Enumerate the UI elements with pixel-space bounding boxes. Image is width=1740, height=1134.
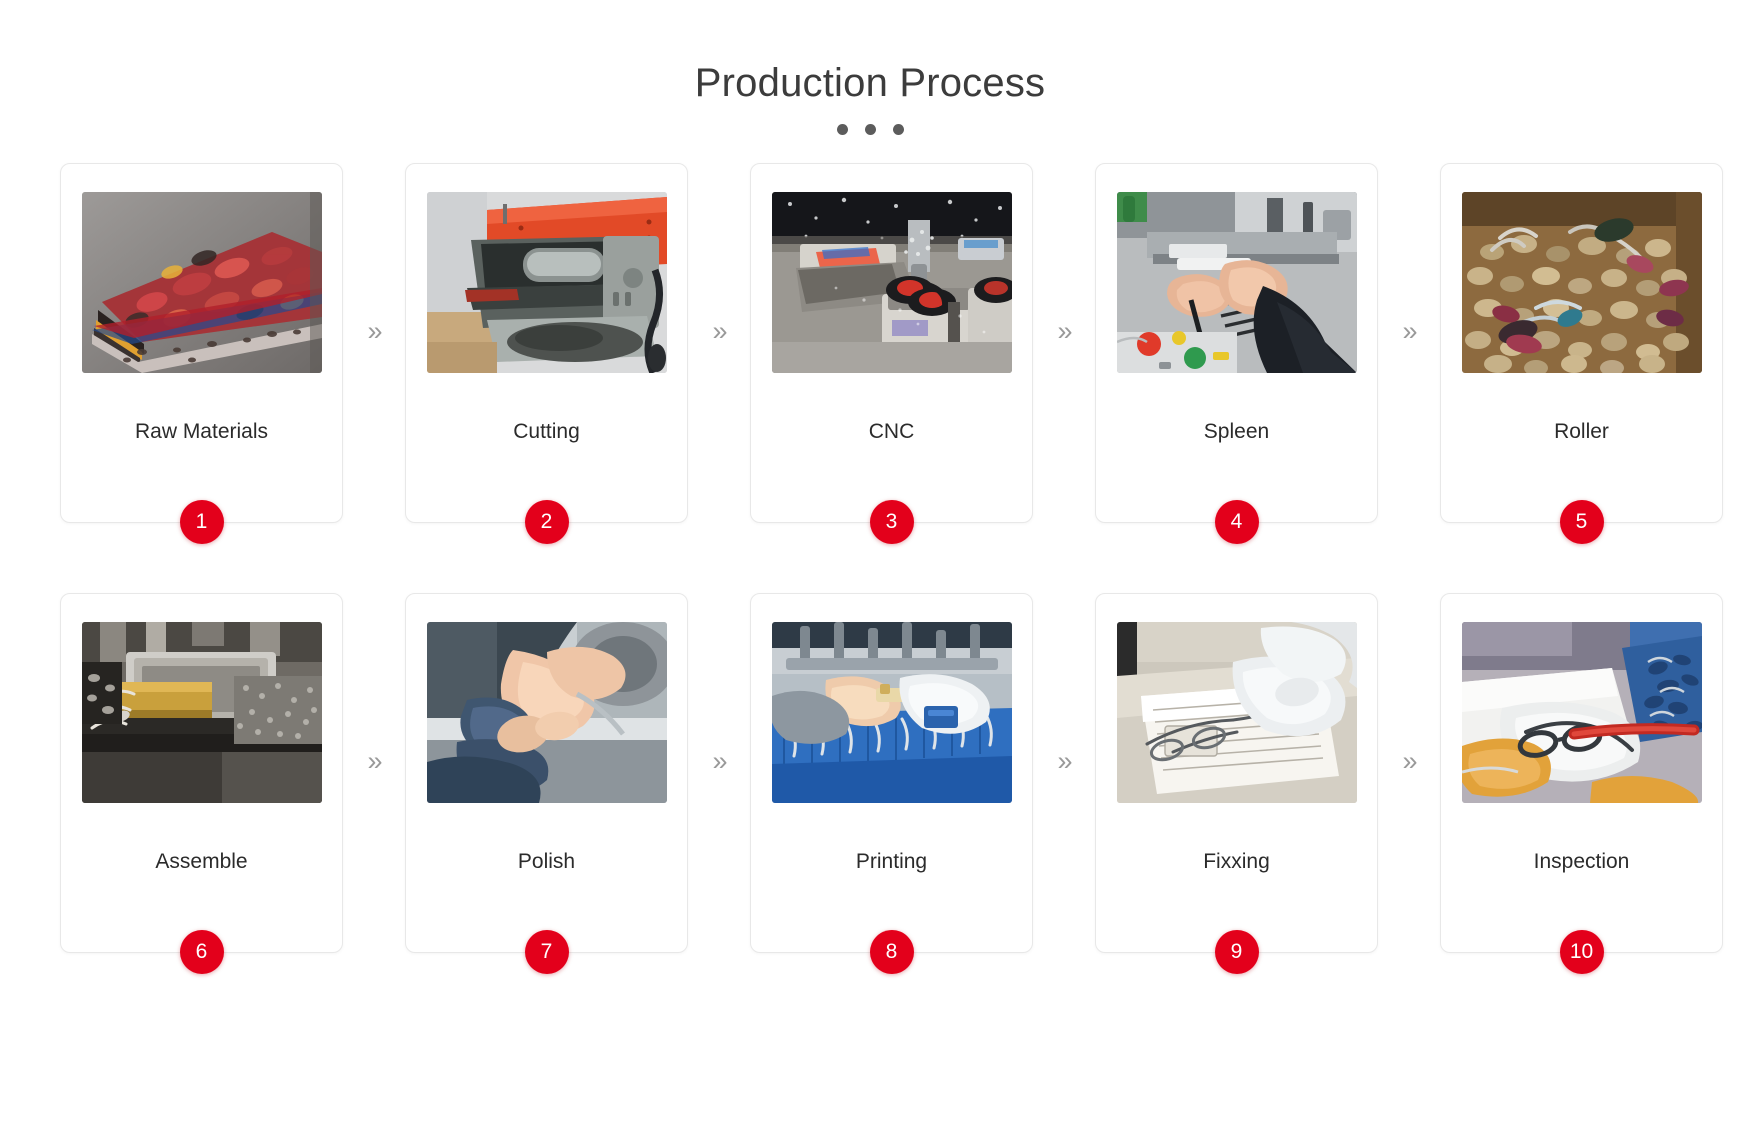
step-label: Inspection: [1526, 849, 1638, 874]
step-label: Roller: [1546, 419, 1617, 444]
decor-dot: [893, 124, 904, 135]
decor-dot: [837, 124, 848, 135]
process-flow: Raw Materials 1 »: [60, 163, 1680, 953]
fixxing-photo: [1117, 622, 1357, 803]
double-chevron-right-icon: »: [367, 748, 380, 775]
raw-materials-photo: [82, 192, 322, 373]
double-chevron-right-icon: »: [712, 748, 725, 775]
process-step-card[interactable]: Spleen 4: [1095, 163, 1378, 523]
process-step-card[interactable]: Polish 7: [405, 593, 688, 953]
double-chevron-right-icon: »: [1057, 318, 1070, 345]
step-number-badge: 10: [1560, 930, 1604, 974]
step-number-badge: 5: [1560, 500, 1604, 544]
process-step-card[interactable]: CNC 3: [750, 163, 1033, 523]
step-number-badge: 1: [180, 500, 224, 544]
flow-arrow: »: [1378, 593, 1440, 953]
double-chevron-right-icon: »: [1402, 748, 1415, 775]
assemble-photo: [82, 622, 322, 803]
step-number-badge: 6: [180, 930, 224, 974]
flow-arrow: »: [343, 593, 405, 953]
decor-dot: [865, 124, 876, 135]
flow-arrow: »: [1033, 163, 1095, 523]
cutting-photo: [427, 192, 667, 373]
step-number-badge: 2: [525, 500, 569, 544]
flow-arrow: »: [343, 163, 405, 523]
process-row-2: Assemble 6 »: [60, 593, 1680, 953]
printing-photo: [772, 622, 1012, 803]
step-number-badge: 9: [1215, 930, 1259, 974]
polish-photo: [427, 622, 667, 803]
cnc-photo: [772, 192, 1012, 373]
flow-arrow: »: [688, 163, 750, 523]
step-number-badge: 8: [870, 930, 914, 974]
step-label: Assemble: [147, 849, 255, 874]
step-label: CNC: [861, 419, 923, 444]
process-step-card[interactable]: Assemble 6: [60, 593, 343, 953]
inspection-photo: [1462, 622, 1702, 803]
step-label: Spleen: [1196, 419, 1277, 444]
roller-photo: [1462, 192, 1702, 373]
step-number-badge: 3: [870, 500, 914, 544]
process-step-card[interactable]: Inspection 10: [1440, 593, 1723, 953]
page-title: Production Process: [0, 60, 1740, 106]
double-chevron-right-icon: »: [712, 318, 725, 345]
process-step-card[interactable]: Printing 8: [750, 593, 1033, 953]
step-number-badge: 4: [1215, 500, 1259, 544]
page-header: Production Process: [0, 0, 1740, 135]
step-label: Cutting: [505, 419, 588, 444]
double-chevron-right-icon: »: [367, 318, 380, 345]
process-step-card[interactable]: Roller 5: [1440, 163, 1723, 523]
step-label: Fixxing: [1195, 849, 1278, 874]
double-chevron-right-icon: »: [1402, 318, 1415, 345]
flow-arrow: »: [1033, 593, 1095, 953]
process-step-card[interactable]: Raw Materials 1: [60, 163, 343, 523]
production-process-page: Production Process: [0, 0, 1740, 1134]
process-row-1: Raw Materials 1 »: [60, 163, 1680, 523]
step-label: Polish: [510, 849, 583, 874]
process-step-card[interactable]: Fixxing 9: [1095, 593, 1378, 953]
step-label: Printing: [848, 849, 935, 874]
flow-arrow: »: [688, 593, 750, 953]
process-step-card[interactable]: Cutting 2: [405, 163, 688, 523]
step-number-badge: 7: [525, 930, 569, 974]
step-label: Raw Materials: [127, 419, 276, 444]
spleen-photo: [1117, 192, 1357, 373]
flow-arrow: »: [1378, 163, 1440, 523]
double-chevron-right-icon: »: [1057, 748, 1070, 775]
title-decor-dots: [0, 123, 1740, 135]
